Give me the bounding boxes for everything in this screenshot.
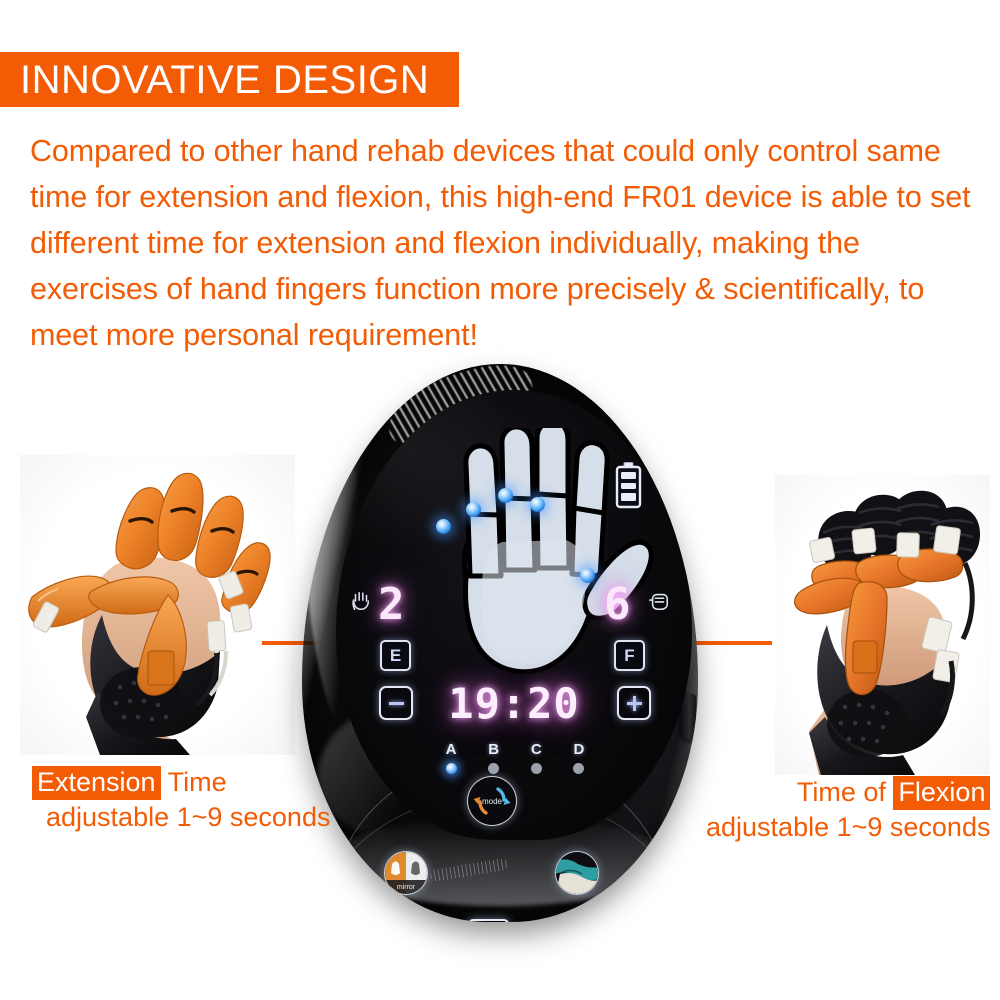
device-display-panel: 2 6 E F 19:20 (336, 390, 692, 840)
decrease-button[interactable] (379, 686, 413, 720)
caption-flexion: Time of Flexion adjustable 1~9 seconds (706, 775, 990, 845)
mode-label-c: C (525, 742, 547, 757)
caption-flexion-lead: Time of (797, 777, 894, 807)
timer-value: 19:20 (448, 683, 579, 725)
mode-label-d: D (568, 742, 590, 757)
caption-extension: Extension Time adjustable 1~9 seconds (32, 765, 330, 835)
mode-label-a: A (440, 742, 462, 757)
flexion-value: 6 (604, 583, 630, 627)
caption-extension-rest: Time (161, 767, 227, 797)
photo-flexion-closed-fist (775, 475, 990, 775)
flexion-badge: F (614, 640, 645, 671)
caption-extension-line2: adjustable 1~9 seconds (32, 800, 330, 835)
mode-dot-c[interactable] (531, 763, 542, 774)
mode-button-label: mode (482, 797, 503, 806)
increase-button[interactable] (617, 686, 651, 720)
caption-flexion-highlight: Flexion (893, 776, 990, 810)
play-pause-button[interactable] (468, 919, 509, 922)
mode-label-b: B (483, 742, 505, 757)
mode-icon: mode (468, 777, 516, 825)
intro-paragraph: Compared to other hand rehab devices tha… (30, 128, 985, 358)
rehab-device: 2 6 E F 19:20 (288, 352, 713, 932)
banner-title: INNOVATIVE DESIGN (0, 60, 429, 100)
mode-dot-b[interactable] (488, 763, 499, 774)
section-banner: INNOVATIVE DESIGN (0, 52, 459, 107)
fist-icon (648, 590, 670, 612)
mirror-button[interactable]: mirror (384, 851, 428, 895)
extension-badge: E (380, 640, 411, 671)
infographic-page: INNOVATIVE DESIGN Compared to other hand… (0, 0, 1000, 1000)
mode-dot-d[interactable] (573, 763, 584, 774)
mode-indicators: A B C D (440, 742, 590, 774)
mirror-icon: mirror (385, 852, 427, 894)
caption-extension-highlight: Extension (32, 766, 161, 800)
mirror-button-label: mirror (397, 884, 416, 891)
open-hand-icon (350, 590, 372, 612)
mode-button[interactable]: mode (467, 776, 517, 826)
plus-glyph-v (633, 696, 636, 711)
caption-flexion-line2: adjustable 1~9 seconds (706, 810, 990, 845)
closed-fist-glove-illustration (775, 475, 990, 775)
open-hand-glove-illustration (20, 455, 295, 755)
hand-training-button[interactable] (555, 851, 599, 895)
mode-dot-a[interactable] (446, 763, 457, 774)
device-shell: 2 6 E F 19:20 (302, 364, 698, 922)
extension-value: 2 (378, 583, 404, 627)
hand-training-icon (556, 852, 598, 894)
timer-display: 19:20 (434, 680, 594, 728)
photo-extension-open-hand (20, 455, 295, 755)
minus-glyph (389, 702, 404, 705)
